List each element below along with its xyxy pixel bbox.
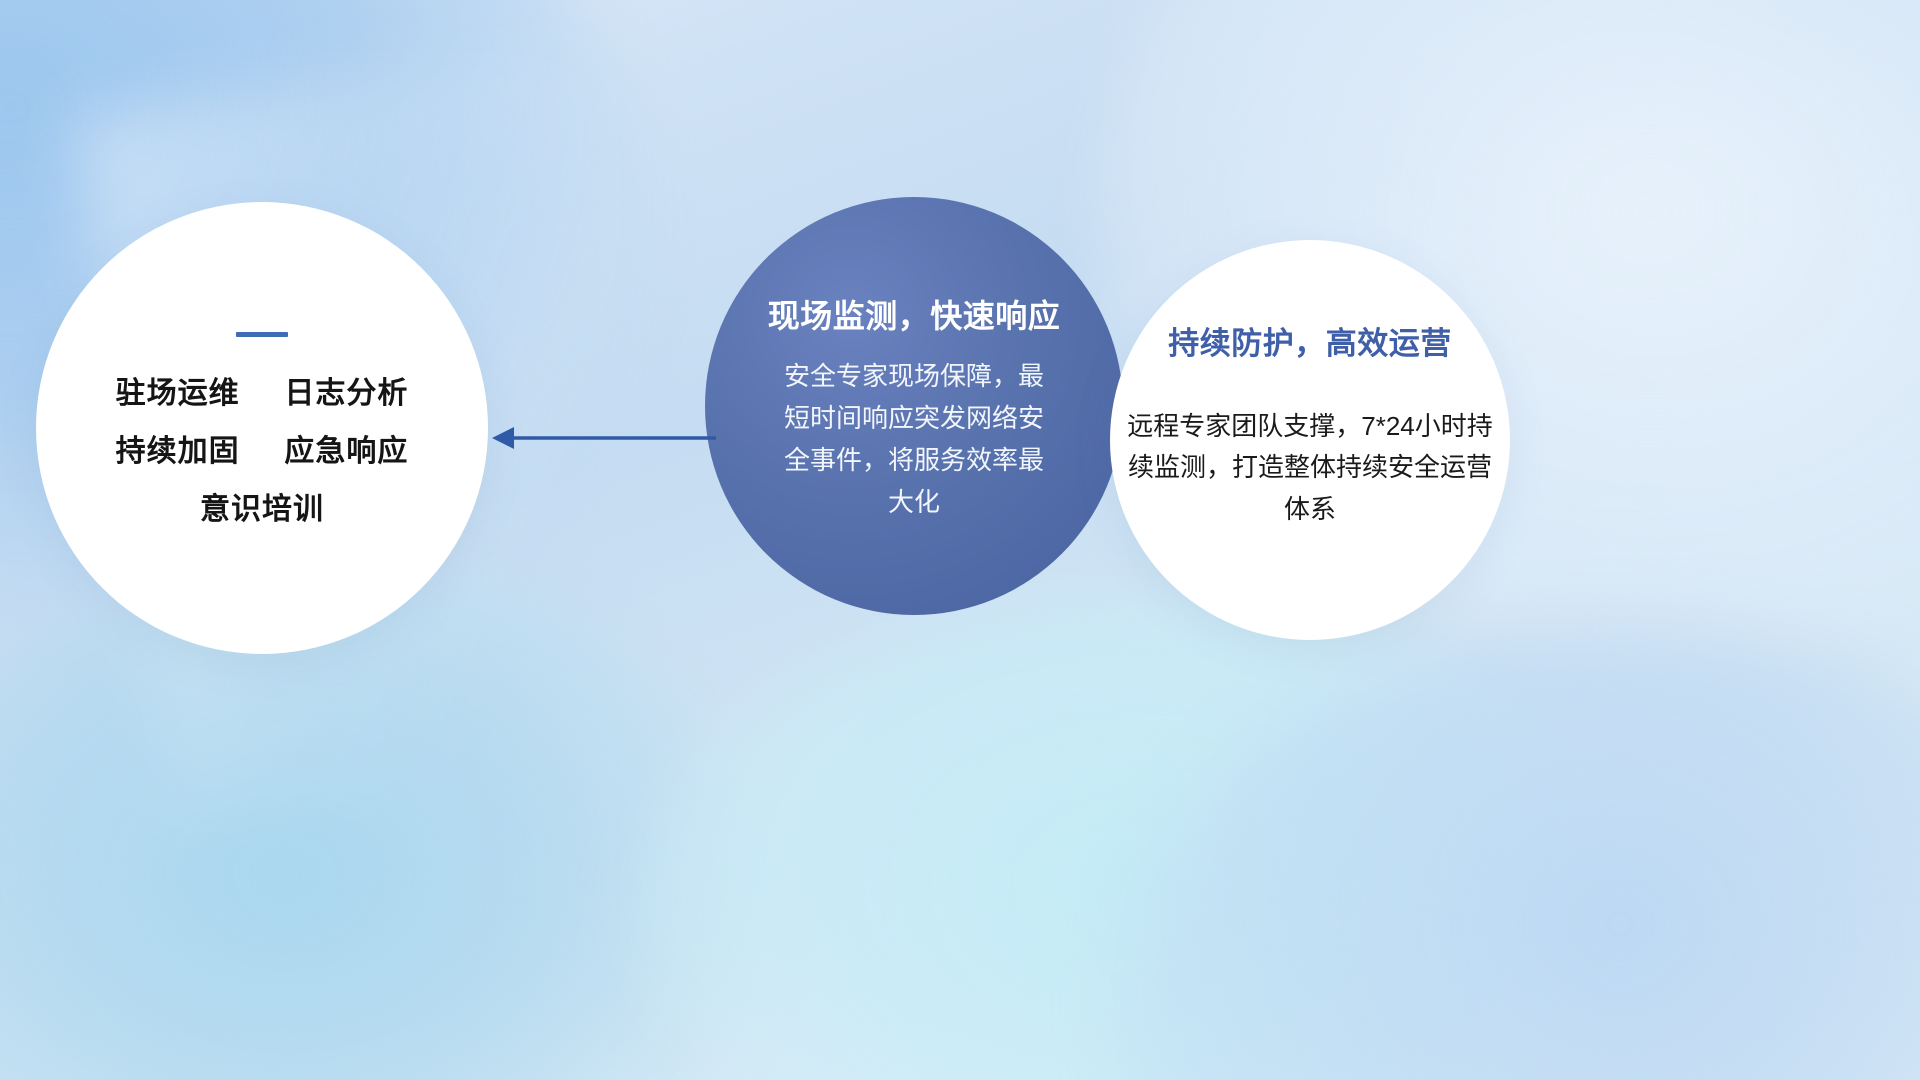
- tag-row: 驻场运维 日志分析: [116, 379, 409, 409]
- tag-label: 日志分析: [284, 377, 408, 410]
- arrow-left-icon: [492, 418, 716, 458]
- diagram-stage: 驻场运维 日志分析 持续加固 应急响应 意识培训 现场监测，快速响应 安全专家现…: [0, 0, 1920, 1080]
- tag-label: 意识培训: [200, 493, 324, 526]
- tag-label: 应急响应: [284, 435, 408, 468]
- tag-row: 持续加固 应急响应: [116, 437, 409, 467]
- tag-label: 持续加固: [116, 435, 240, 468]
- tag-row: 意识培训: [200, 495, 324, 525]
- divider-dash: [236, 332, 288, 337]
- capability-card-middle[interactable]: 现场监测，快速响应 安全专家现场保障，最短时间响应突发网络安全事件，将服务效率最…: [705, 197, 1123, 615]
- card-title: 持续防护，高效运营: [1168, 318, 1452, 363]
- capability-card-left[interactable]: 驻场运维 日志分析 持续加固 应急响应 意识培训: [36, 202, 488, 654]
- capability-card-right[interactable]: 持续防护，高效运营 远程专家团队支撑，7*24小时持续监测，打造整体持续安全运营…: [1110, 240, 1510, 640]
- card-body-text: 远程专家团队支撑，7*24小时持续监测，打造整体持续安全运营体系: [1124, 406, 1496, 531]
- card-body-text: 安全专家现场保障，最短时间响应突发网络安全事件，将服务效率最大化: [778, 355, 1050, 523]
- tag-label: 驻场运维: [116, 377, 240, 410]
- card-title: 现场监测，快速响应: [768, 291, 1061, 337]
